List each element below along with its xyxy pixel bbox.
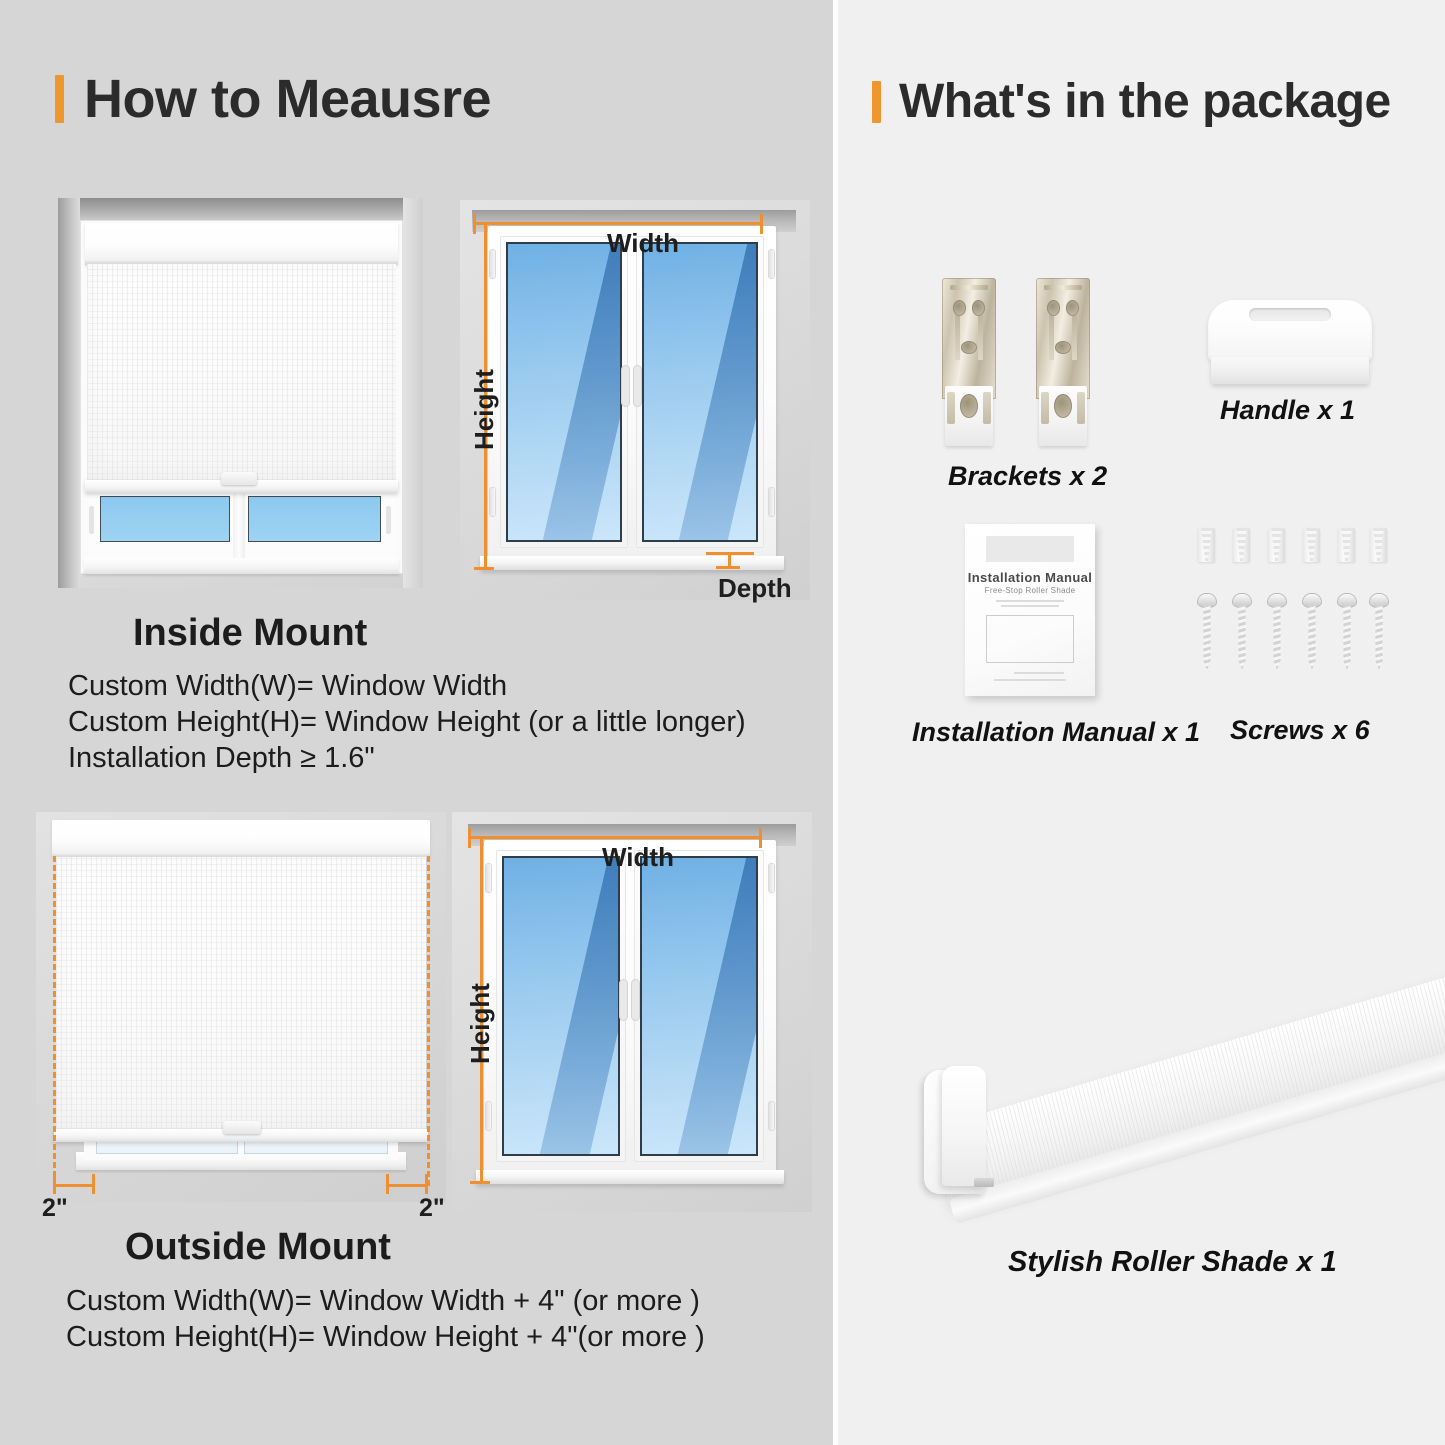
width-label: Width xyxy=(607,230,679,256)
shade-cassette xyxy=(85,223,398,265)
manual-cover-title: Installation Manual xyxy=(965,570,1095,585)
inside-mount-spec-2: Custom Height(H)= Window Height (or a li… xyxy=(68,706,746,739)
package-heading: What's in the package xyxy=(872,78,1391,126)
brackets-label: Brackets x 2 xyxy=(948,461,1107,492)
outside-mount-title: Outside Mount xyxy=(125,1226,391,1269)
installation-manual-item: Installation Manual Free-Stop Roller Sha… xyxy=(965,524,1095,696)
outside-height-label: Height xyxy=(467,983,493,1064)
accent-bar-icon xyxy=(872,81,881,123)
outside-mount-shade-illustration xyxy=(36,812,446,1202)
inside-mount-title: Inside Mount xyxy=(133,612,367,655)
inside-mount-spec-1: Custom Width(W)= Window Width xyxy=(68,670,507,703)
outside-width-measure-line xyxy=(468,836,762,839)
bracket-item-2 xyxy=(1036,278,1090,446)
screws-item xyxy=(1198,528,1388,696)
outside-shade-pull-handle xyxy=(223,1121,261,1134)
installation-manual-label: Installation Manual x 1 xyxy=(912,717,1200,748)
depth-label: Depth xyxy=(718,575,792,601)
height-label: Height xyxy=(471,369,497,450)
outside-shade-cassette xyxy=(52,820,430,858)
shade-pull-handle xyxy=(221,472,257,485)
outside-mount-spec-2: Custom Height(H)= Window Height + 4"(or … xyxy=(66,1321,705,1354)
inside-mount-spec-3: Installation Depth ≥ 1.6" xyxy=(68,742,375,775)
handle-item xyxy=(1208,300,1372,384)
outside-mount-window-diagram: Width Height xyxy=(452,812,812,1212)
handle-label: Handle x 1 xyxy=(1220,395,1355,426)
infographic-page: How to Meausre xyxy=(0,0,1445,1445)
bracket-item-1 xyxy=(942,278,996,446)
package-contents-panel: What's in the package xyxy=(838,0,1445,1445)
accent-bar-icon xyxy=(55,75,64,123)
overhang-right-label: 2" xyxy=(419,1196,445,1221)
overhang-left-label: 2" xyxy=(42,1196,68,1221)
inside-mount-window-diagram: Width Height Depth xyxy=(460,200,810,600)
outside-width-label: Width xyxy=(602,844,674,870)
manual-cover-subtitle: Free-Stop Roller Shade xyxy=(965,586,1095,595)
how-to-measure-panel: How to Meausre xyxy=(0,0,833,1445)
outside-shade-fabric xyxy=(56,857,426,1129)
how-to-measure-title: How to Meausre xyxy=(84,72,491,126)
roller-shade-label: Stylish Roller Shade x 1 xyxy=(1008,1246,1337,1279)
width-measure-line xyxy=(473,222,763,225)
outside-mount-spec-1: Custom Width(W)= Window Width + 4" (or m… xyxy=(66,1285,700,1318)
overhang-guide-right xyxy=(427,856,430,1186)
overhang-guide-left xyxy=(53,856,56,1186)
inside-mount-shade-illustration xyxy=(58,198,423,588)
roller-shade-item xyxy=(912,880,1432,1240)
how-to-measure-heading: How to Meausre xyxy=(55,72,491,126)
package-title: What's in the package xyxy=(899,78,1391,126)
screws-label: Screws x 6 xyxy=(1230,715,1370,746)
shade-fabric xyxy=(87,264,396,480)
